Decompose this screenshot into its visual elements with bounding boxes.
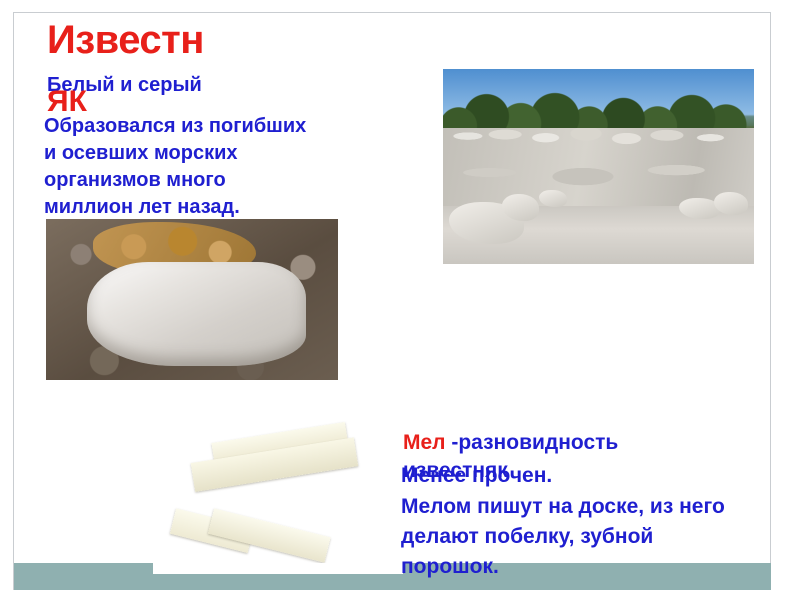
quarry-wall	[443, 128, 754, 210]
formation-line-4: миллион лет назад.	[44, 194, 306, 221]
formation-line-2: и осевших морских	[44, 140, 306, 167]
text-formation-paragraph: Образовался из погибших и осевших морски…	[44, 113, 306, 221]
chalk-uses-line-1: Мелом пишут на доске, из него	[401, 492, 725, 522]
chalk-uses-line-3: порошок.	[401, 552, 725, 582]
chalk-stick	[207, 508, 330, 563]
chalk-photo-overlap-mask	[153, 563, 403, 574]
chalk-sticks-photo	[153, 418, 403, 573]
text-mel-heading: Мел -разновидность	[403, 429, 618, 457]
mel-heading-word-red: Мел	[403, 431, 446, 454]
page-title: Известн	[47, 18, 204, 62]
rock-limestone-boulder	[87, 262, 306, 365]
presentation-slide: Известн ЯК Белый и серый Образовался из …	[0, 0, 800, 600]
limestone-rock-photo	[46, 219, 338, 380]
limestone-quarry-photo	[443, 69, 754, 264]
text-menee-prochen: Менее прочен.	[401, 462, 552, 490]
mel-heading-word-blue: -разновидность	[451, 431, 618, 454]
text-belyi-line2: серый	[138, 74, 202, 96]
chalk-uses-line-2: делают побелку, зубной	[401, 522, 725, 552]
text-chalk-uses: Мелом пишут на доске, из него делают поб…	[401, 492, 725, 582]
formation-line-3: организмов много	[44, 167, 306, 194]
page-title-continuation: ЯК	[47, 86, 87, 118]
